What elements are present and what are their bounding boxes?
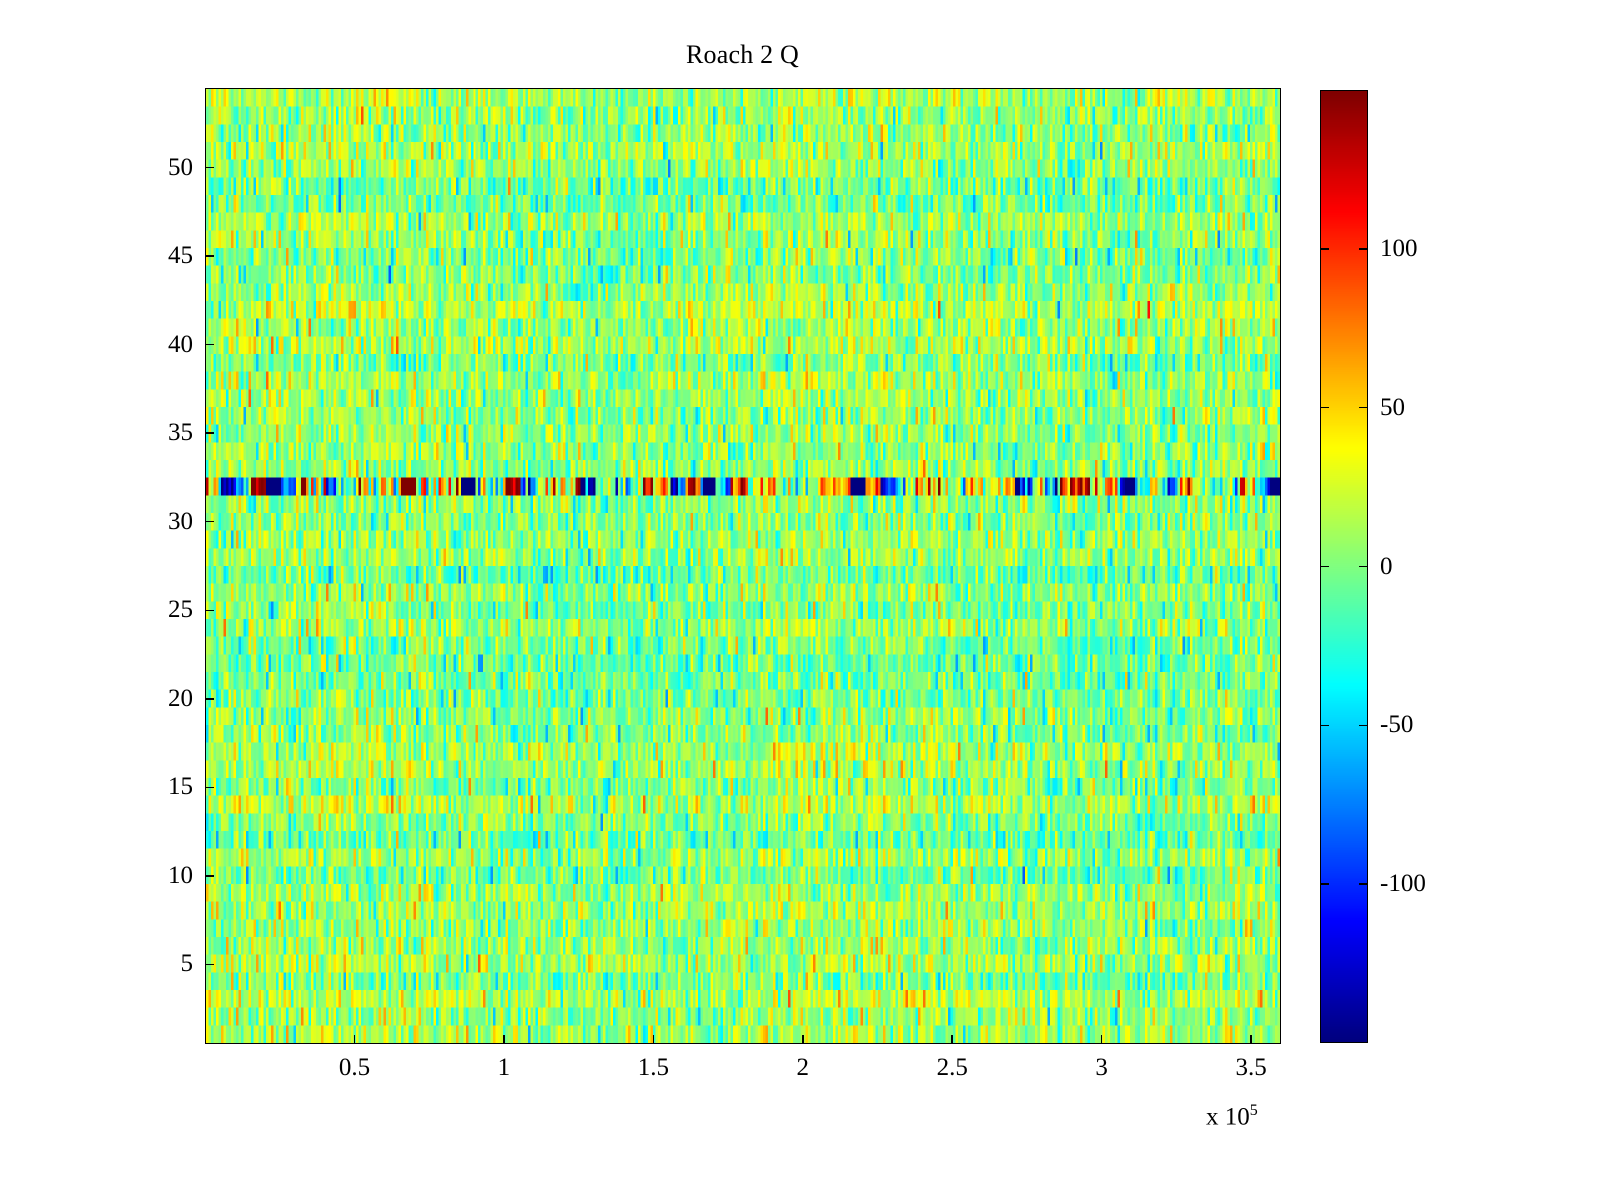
x-tick-label: 2.5	[937, 1054, 968, 1082]
page-title: Roach 2 Q	[0, 40, 1485, 70]
y-tick-mark	[205, 875, 214, 877]
matlab-figure-window: Roach 2 Q 0.511.522.533.5 51015202530354…	[0, 0, 1600, 1200]
heatmap-axes[interactable]	[205, 88, 1281, 1044]
y-tick-mark	[205, 521, 214, 523]
y-tick-label: 50	[168, 154, 193, 182]
x-tick-label: 3	[1095, 1054, 1108, 1082]
y-tick-mark	[205, 432, 214, 434]
y-tick-label: 45	[168, 242, 193, 270]
y-tick-mark	[205, 698, 214, 700]
y-tick-label: 15	[168, 773, 193, 801]
y-tick-label: 10	[168, 862, 193, 890]
colorbar-tick-mark	[1320, 725, 1329, 727]
y-tick-label: 35	[168, 419, 193, 447]
colorbar-tick-mark	[1320, 407, 1329, 409]
y-tick-label: 20	[168, 685, 193, 713]
y-tick-mark	[205, 787, 214, 789]
y-tick-mark	[205, 255, 214, 257]
x-tick-mark	[1250, 1035, 1252, 1044]
colorbar-tick-label: 100	[1380, 235, 1418, 263]
x-tick-mark	[802, 1035, 804, 1044]
colorbar-tick-mark	[1359, 566, 1368, 568]
colorbar-tick-label: -100	[1380, 870, 1426, 898]
x-tick-label: 0.5	[339, 1054, 370, 1082]
colorbar-tick-label: 50	[1380, 394, 1405, 422]
y-tick-label: 25	[168, 596, 193, 624]
colorbar-tick-mark	[1359, 407, 1368, 409]
x-axis-exponent-label: x 105	[1206, 1102, 1258, 1131]
colorbar-tick-label: -50	[1380, 711, 1413, 739]
x-tick-mark	[1101, 1035, 1103, 1044]
x-tick-label: 1	[498, 1054, 511, 1082]
x-tick-mark	[354, 1035, 356, 1044]
colorbar-tick-mark	[1359, 883, 1368, 885]
y-tick-mark	[205, 344, 214, 346]
x-tick-label: 3.5	[1235, 1054, 1266, 1082]
y-tick-label: 5	[181, 950, 194, 978]
y-tick-mark	[205, 964, 214, 966]
colorbar-tick-mark	[1359, 248, 1368, 250]
colorbar-tick-label: 0	[1380, 553, 1393, 581]
y-tick-mark	[205, 167, 214, 169]
heatmap-image[interactable]	[206, 89, 1280, 1043]
y-tick-mark	[205, 610, 214, 612]
x-tick-mark	[503, 1035, 505, 1044]
colorbar-tick-mark	[1320, 883, 1329, 885]
colorbar-tick-mark	[1359, 725, 1368, 727]
y-tick-label: 30	[168, 508, 193, 536]
colorbar-tick-mark	[1320, 566, 1329, 568]
x-tick-mark	[951, 1035, 953, 1044]
x-tick-label: 1.5	[638, 1054, 669, 1082]
x-axis-exponent-prefix: x 10	[1206, 1103, 1250, 1130]
x-axis-exponent-power: 5	[1250, 1102, 1258, 1119]
y-tick-label: 40	[168, 331, 193, 359]
colorbar-tick-mark	[1320, 248, 1329, 250]
x-tick-label: 2	[797, 1054, 810, 1082]
x-tick-mark	[653, 1035, 655, 1044]
